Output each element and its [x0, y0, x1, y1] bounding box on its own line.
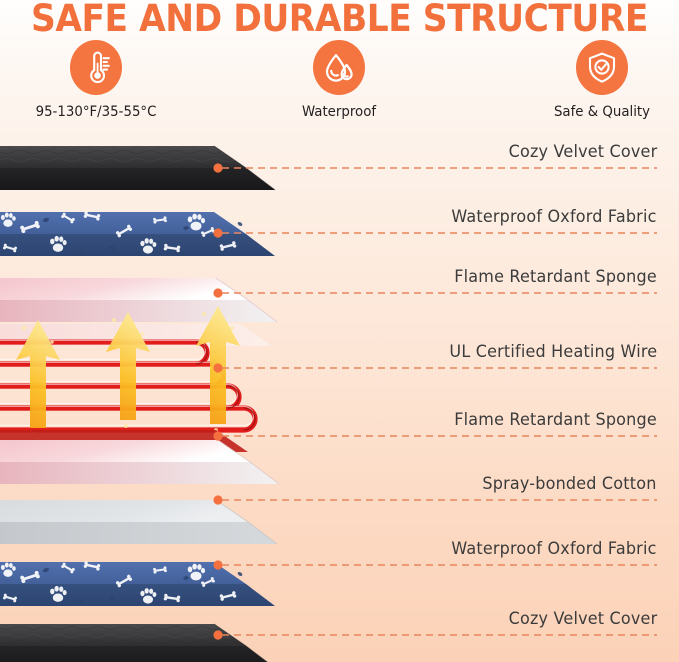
- layer-shape-cozy-velvet-cover-bottom: [0, 624, 275, 662]
- feature-icon-badge: [313, 40, 365, 95]
- layer-shape-cozy-velvet-cover-top: [0, 146, 275, 190]
- feature-safe-quality: Safe & Quality: [517, 40, 679, 120]
- feature-icon-badge: [70, 40, 122, 95]
- layer-shape-flame-retardant-sponge-top: [0, 278, 277, 322]
- layer-label-cozy-velvet-cover-top: Cozy Velvet Cover: [508, 142, 657, 161]
- feature-icon-badge: [576, 40, 628, 95]
- leader-dot: [213, 560, 222, 569]
- layer-shape-spray-bonded-cotton: [0, 500, 277, 544]
- leader-dot: [213, 163, 222, 172]
- infographic-page: SAFE AND DURABLE STRUCTURE 95-130°F/35-5…: [0, 0, 679, 662]
- leader-dot: [213, 363, 222, 372]
- layer-label-flame-retardant-sponge-top: Flame Retardant Sponge: [454, 267, 657, 286]
- layer-shape-flame-retardant-sponge-bottom: [0, 430, 279, 484]
- water-drop-icon: [322, 50, 356, 86]
- layer-shape-ul-certified-heating-wire: [0, 306, 272, 436]
- shield-check-icon: [586, 50, 618, 86]
- leader-dot: [213, 630, 222, 639]
- layer-label-spray-bonded-cotton: Spray-bonded Cotton: [483, 474, 657, 493]
- layer-label-flame-retardant-sponge-bottom: Flame Retardant Sponge: [454, 410, 657, 429]
- feature-waterproof: Waterproof: [254, 40, 424, 120]
- layer-label-ul-certified-heating-wire: UL Certified Heating Wire: [449, 342, 657, 361]
- leader-dot: [213, 228, 222, 237]
- layer-shape-waterproof-oxford-fabric-bottom: [0, 561, 275, 606]
- leader-dot: [213, 431, 222, 440]
- leader-dot: [213, 495, 222, 504]
- layer-shape-waterproof-oxford-fabric-top: [0, 211, 275, 256]
- layer-label-waterproof-oxford-fabric-bottom: Waterproof Oxford Fabric: [452, 539, 657, 558]
- feature-temperature: 95-130°F/35-55°C: [11, 40, 181, 120]
- page-title: SAFE AND DURABLE STRUCTURE: [24, 0, 655, 40]
- feature-label: 95-130°F/35-55°C: [18, 104, 174, 120]
- layer-label-waterproof-oxford-fabric-top: Waterproof Oxford Fabric: [452, 207, 657, 226]
- thermometer-icon: [80, 50, 112, 86]
- leader-dot: [213, 288, 222, 297]
- feature-label: Waterproof: [261, 104, 417, 120]
- leader-lines: [213, 163, 657, 639]
- layer-label-cozy-velvet-cover-bottom: Cozy Velvet Cover: [508, 609, 657, 628]
- layer-diagram: Cozy Velvet Cover Waterproof Oxford Fabr…: [0, 128, 679, 662]
- feature-label: Safe & Quality: [524, 104, 679, 120]
